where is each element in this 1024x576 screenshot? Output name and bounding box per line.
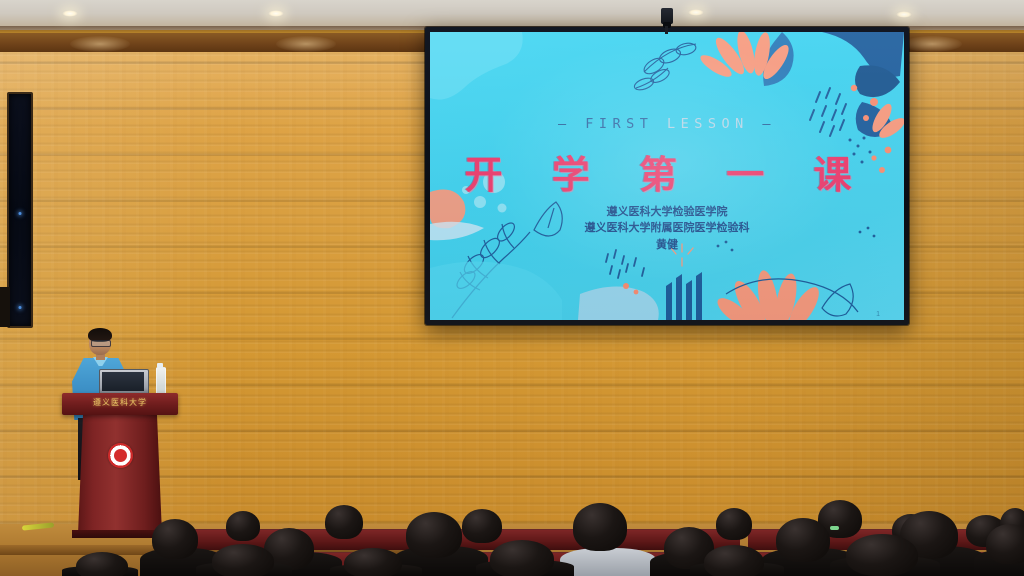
audience-head (212, 544, 274, 576)
wall-panel-edge (0, 287, 10, 327)
lecture-hall-photo: – FIRST LESSON – 开 学 第 一 课 遵义医科大学检验医学院 遵… (0, 0, 1024, 576)
slide-subtitle: 遵义医科大学检验医学院 遵义医科大学附属医院医学检验科 黄健 (430, 204, 904, 253)
light-reflection (70, 36, 130, 52)
light-reflection (902, 36, 962, 52)
eyebrow-dash-right: – (762, 116, 776, 132)
downlight-icon (688, 9, 704, 16)
projection-screen-frame: – FIRST LESSON – 开 学 第 一 课 遵义医科大学检验医学院 遵… (425, 27, 909, 325)
audience-head (226, 511, 260, 541)
light-reflection (276, 36, 336, 52)
audience-head (716, 508, 752, 540)
audience-head (490, 540, 554, 576)
emblem-center (114, 449, 127, 462)
projection-screen[interactable]: – FIRST LESSON – 开 学 第 一 课 遵义医科大学检验医学院 遵… (430, 32, 904, 320)
eyebrow-word-first: FIRST (585, 116, 653, 132)
led-indicator-icon (19, 306, 22, 309)
camera-mount-arm (665, 26, 668, 34)
audience-head (986, 524, 1024, 564)
audience-head (704, 545, 764, 576)
podium-body (78, 414, 162, 534)
audience-head (406, 512, 462, 558)
audience-head (325, 505, 363, 539)
audience-head (573, 503, 627, 551)
glasses-icon (91, 340, 111, 347)
audience-head (344, 548, 402, 576)
subtitle-line-1: 遵义医科大学检验医学院 (607, 205, 728, 218)
eyebrow-word-second: LESSON (667, 116, 749, 132)
slide-eyebrow: – FIRST LESSON – (430, 116, 904, 132)
subtitle-line-2: 遵义医科大学附属医院医学检验科 (585, 221, 750, 234)
led-indicator-icon (19, 212, 22, 215)
slide-page-number: 1 (876, 311, 880, 318)
downlight-icon (896, 11, 912, 18)
downlight-icon (62, 10, 78, 17)
hair-tie-icon (830, 526, 839, 530)
slide-title: 开 学 第 一 课 (430, 144, 904, 199)
wall-display-panel[interactable] (7, 92, 33, 328)
audience-head (846, 534, 918, 576)
eyebrow-dash-left: – (558, 116, 572, 132)
audience-head (152, 519, 198, 559)
audience-head (462, 509, 502, 543)
presenter-name: 黄健 (430, 237, 904, 253)
audience-head (776, 518, 830, 562)
laptop-screen (102, 372, 144, 391)
water-bottle-icon (156, 367, 166, 396)
audience-head (76, 552, 128, 576)
downlight-icon (268, 10, 284, 17)
audience-shoulders (560, 548, 656, 576)
podium-plaque: 遵义医科大学 (62, 397, 178, 408)
